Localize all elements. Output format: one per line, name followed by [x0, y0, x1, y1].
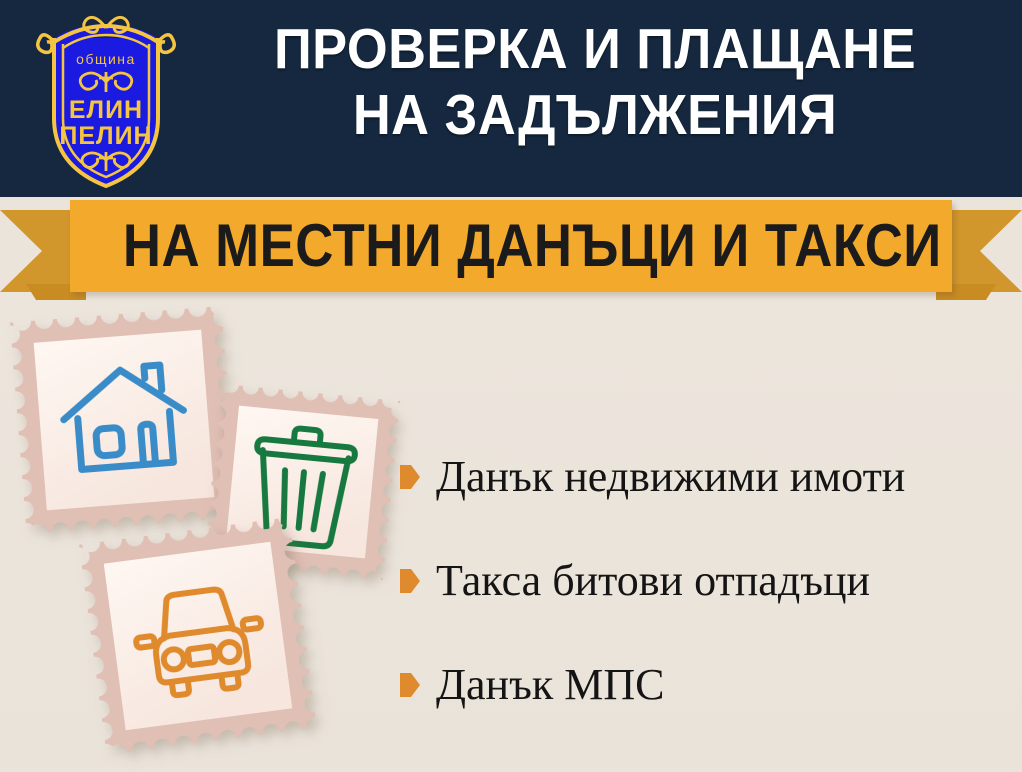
elin-pelin-coat-of-arms-icon: община ЕЛИН ПЕЛИН: [30, 8, 182, 190]
stamp-card-house: [10, 306, 238, 534]
arrow-bullet-icon: [400, 569, 420, 593]
stamp-card-car: [79, 517, 317, 755]
arrow-bullet-icon: [400, 465, 420, 489]
page-title: ПРОВЕРКА И ПЛАЩАНЕ НА ЗАДЪЛЖЕНИЯ: [218, 16, 972, 148]
page-title-line-1: ПРОВЕРКА И ПЛАЩАНЕ: [218, 16, 972, 82]
list-item[interactable]: Данък недвижими имоти: [400, 425, 1012, 529]
ribbon-band: НА МЕСТНИ ДАНЪЦИ И ТАКСИ: [70, 200, 952, 292]
svg-text:ПЕЛИН: ПЕЛИН: [59, 122, 152, 150]
svg-text:ЕЛИН: ЕЛИН: [69, 96, 143, 124]
poster-root: ПРОВЕРКА И ПЛАЩАНЕ НА ЗАДЪЛЖЕНИЯ об: [0, 0, 1022, 772]
list-item[interactable]: Такса битови отпадъци: [400, 529, 1012, 633]
ribbon-text: НА МЕСТНИ ДАНЪЦИ И ТАКСИ: [123, 212, 899, 280]
arrow-bullet-icon: [400, 673, 420, 697]
list-item-label: Данък недвижими имоти: [436, 454, 905, 500]
list-item[interactable]: Данък МПС: [400, 633, 1012, 737]
svg-text:община: община: [76, 51, 136, 67]
list-item-label: Такса битови отпадъци: [436, 558, 870, 604]
ribbon-banner: НА МЕСТНИ ДАНЪЦИ И ТАКСИ: [0, 196, 1022, 306]
list-item-label: Данък МПС: [436, 662, 664, 708]
page-title-line-2: НА ЗАДЪЛЖЕНИЯ: [218, 82, 972, 148]
tax-type-list: Данък недвижими имоти Такса битови отпад…: [400, 425, 1012, 737]
